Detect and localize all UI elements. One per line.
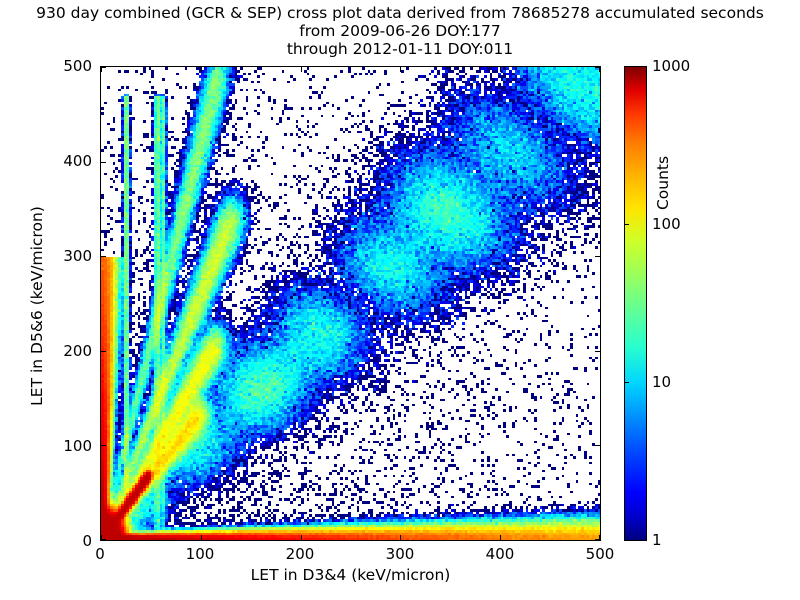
y-tick-right-2 [595,351,600,352]
ytick-label-3: 300 [52,247,92,265]
y-tick-right-4 [595,162,600,163]
y-axis-label: LET in D5&6 (keV/micron) [28,126,46,486]
colorbar-axis-label: Counts [654,63,672,303]
colorbar-tick-1 [624,382,629,383]
ytick-label-2: 200 [52,342,92,360]
xtick-label-0: 0 [95,545,105,563]
x-tick-top-2 [301,67,302,72]
x-tick-5 [599,535,600,540]
y-tick-0 [101,539,106,540]
x-tick-top-3 [400,67,401,72]
figure-canvas: 930 day combined (GCR & SEP) cross plot … [0,0,800,600]
y-tick-right-5 [595,67,600,68]
xtick-label-4: 400 [486,545,515,563]
x-tick-top-1 [201,67,202,72]
plot-title: 930 day combined (GCR & SEP) cross plot … [0,4,800,58]
y-tick-right-3 [595,256,600,257]
colorbar-tick-3 [624,66,629,67]
colorbar-tick-2 [624,224,629,225]
plot-axes [100,66,601,541]
xtick-label-1: 100 [186,545,215,563]
title-line-1: 930 day combined (GCR & SEP) cross plot … [0,4,800,22]
ytick-label-5: 500 [52,57,92,75]
xtick-label-5: 500 [586,545,615,563]
colorbar-label-1: 1 [652,531,662,549]
heatmap-canvas [101,67,600,540]
x-tick-3 [400,535,401,540]
ytick-label-4: 400 [52,152,92,170]
x-tick-1 [201,535,202,540]
ytick-label-1: 100 [52,437,92,455]
x-tick-top-4 [500,67,501,72]
x-tick-2 [301,535,302,540]
title-line-2: from 2009-06-26 DOY:177 [0,22,800,40]
xtick-label-3: 300 [386,545,415,563]
y-tick-3 [101,256,106,257]
ytick-label-0: 0 [52,532,92,550]
colorbar: 1 10 100 1000 [624,66,647,541]
x-axis-label: LET in D3&4 (keV/micron) [100,566,601,584]
y-tick-1 [101,445,106,446]
y-tick-right-1 [595,445,600,446]
y-tick-5 [101,67,106,68]
title-line-3: through 2012-01-11 DOY:011 [0,40,800,58]
xtick-label-2: 200 [286,545,315,563]
colorbar-gradient [624,66,647,541]
colorbar-label-10: 10 [652,373,671,391]
y-tick-4 [101,162,106,163]
colorbar-tick-0 [624,540,629,541]
y-tick-2 [101,351,106,352]
x-tick-4 [500,535,501,540]
